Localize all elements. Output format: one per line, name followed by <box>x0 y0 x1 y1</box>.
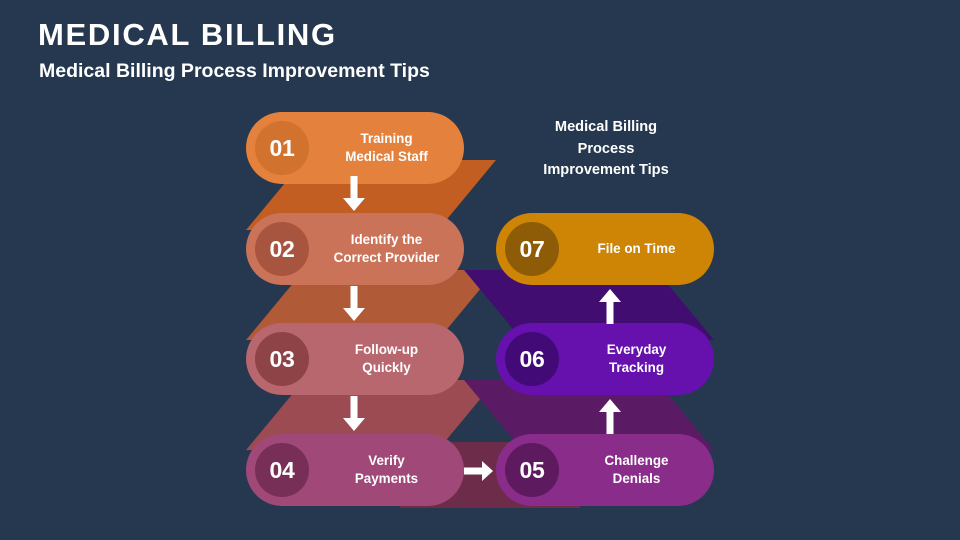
step-label-02: Identify the Correct Provider <box>314 231 459 267</box>
step-number-badge-04: 04 <box>255 443 309 497</box>
arrow-down-icon-03-04 <box>342 396 366 432</box>
steps-layer: 01 Training Medical Staff 02 Identify th… <box>0 0 960 540</box>
step-number-badge-05: 05 <box>505 443 559 497</box>
step-label-06: Everyday Tracking <box>564 341 709 377</box>
arrow-down-icon-02-03 <box>342 286 366 322</box>
step-number-badge-01: 01 <box>255 121 309 175</box>
step-pill-02[interactable]: 02 Identify the Correct Provider <box>246 213 464 285</box>
step-number-badge-02: 02 <box>255 222 309 276</box>
arrow-right-icon-04-05 <box>464 460 494 482</box>
step-number-badge-03: 03 <box>255 332 309 386</box>
step-label-04: Verify Payments <box>314 452 459 488</box>
step-pill-03[interactable]: 03 Follow-up Quickly <box>246 323 464 395</box>
step-label-07: File on Time <box>564 240 709 258</box>
step-label-01: Training Medical Staff <box>314 130 459 166</box>
step-pill-05[interactable]: 05 Challenge Denials <box>496 434 714 506</box>
slide-canvas: MEDICAL BILLING Medical Billing Process … <box>0 0 960 540</box>
step-pill-04[interactable]: 04 Verify Payments <box>246 434 464 506</box>
step-pill-01[interactable]: 01 Training Medical Staff <box>246 112 464 184</box>
arrow-up-icon-05-06 <box>598 398 622 434</box>
arrow-down-icon-01-02 <box>342 176 366 212</box>
step-pill-07[interactable]: 07 File on Time <box>496 213 714 285</box>
step-pill-06[interactable]: 06 Everyday Tracking <box>496 323 714 395</box>
arrow-up-icon-06-07 <box>598 288 622 324</box>
step-label-05: Challenge Denials <box>564 452 709 488</box>
step-number-badge-06: 06 <box>505 332 559 386</box>
step-label-03: Follow-up Quickly <box>314 341 459 377</box>
step-number-badge-07: 07 <box>505 222 559 276</box>
